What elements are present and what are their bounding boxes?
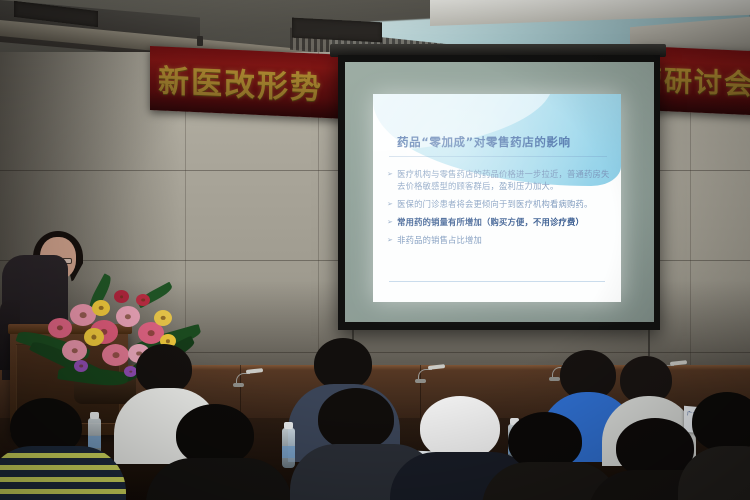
bottle-label xyxy=(282,446,295,458)
flower-blossom-purple xyxy=(74,360,88,372)
audience-head xyxy=(692,392,750,452)
slide-bullet-text: 医疗机构与零售药店的药品价格进一步拉近，普通药房失去价格敏感型的顾客群后，盈利压… xyxy=(397,168,611,192)
flower-blossom-yellow xyxy=(92,300,110,316)
audience-head xyxy=(314,338,372,390)
water-bottle xyxy=(282,428,295,468)
slide-bullet-item-emphasized: ➢ 常用药的销量有所增加（购买方便，不用诊疗费） xyxy=(387,216,611,228)
flower-blossom xyxy=(48,318,72,338)
microphone-head-icon xyxy=(428,364,445,370)
audience-member-foreground xyxy=(488,412,606,500)
slide-bullet-item: ➢ 医保的门诊患者将会更倾向于到医疗机构看病购药。 xyxy=(387,198,611,210)
audience-head xyxy=(318,388,394,450)
audience-head xyxy=(136,344,192,394)
table-microphone xyxy=(236,370,266,384)
slide-bullet-list: ➢ 医疗机构与零售药店的药品价格进一步拉近，普通药房失去价格敏感型的顾客群后，盈… xyxy=(387,168,611,252)
table-microphone xyxy=(418,366,448,380)
bullet-arrow-icon: ➢ xyxy=(387,216,393,227)
conference-room-photo: 新医改形势 营研讨会 药品“零加成”对零售药店的影响 ➢ 医疗机构与零售药店的药… xyxy=(0,0,750,500)
slide-footer-divider xyxy=(389,281,605,282)
microphone-base xyxy=(415,379,426,383)
bullet-arrow-icon: ➢ xyxy=(387,198,393,209)
flower-blossom xyxy=(116,306,140,327)
bullet-arrow-icon: ➢ xyxy=(387,234,393,245)
audience-head xyxy=(616,418,694,478)
slide-title-divider xyxy=(389,156,607,157)
flower-blossom-yellow xyxy=(84,328,104,346)
screen-surface: 药品“零加成”对零售药店的影响 ➢ 医疗机构与零售药店的药品价格进一步拉近，普通… xyxy=(345,62,654,322)
audience-shoulders xyxy=(678,446,750,500)
bottle-cap xyxy=(284,422,293,429)
audience-member-foreground xyxy=(0,398,116,500)
audience-head xyxy=(176,404,254,466)
banner-left-segment: 新医改形势 xyxy=(150,46,365,120)
audience-member-foreground xyxy=(150,404,282,500)
slide-bullet-text: 常用药的销量有所增加（购买方便，不用诊疗费） xyxy=(397,216,584,228)
presentation-slide: 药品“零加成”对零售药店的影响 ➢ 医疗机构与零售药店的药品价格进一步拉近，普通… xyxy=(373,94,621,302)
projection-screen: 药品“零加成”对零售药店的影响 ➢ 医疗机构与零售药店的药品价格进一步拉近，普通… xyxy=(338,55,660,330)
slide-title: 药品“零加成”对零售药店的影响 xyxy=(397,134,609,150)
microphone-head-icon xyxy=(246,368,263,374)
banner-left-text: 新医改形势 xyxy=(158,55,323,107)
slide-bullet-text: 医保的门诊患者将会更倾向于到医疗机构看病购药。 xyxy=(397,198,592,210)
microphone-base xyxy=(233,383,244,387)
ceiling-sensor-icon xyxy=(197,36,203,46)
slide-bullet-item: ➢ 非药品的销售占比增加 xyxy=(387,234,611,246)
flower-blossom-yellow xyxy=(154,310,172,326)
flower-blossom-red xyxy=(114,290,129,303)
flower-blossom-red xyxy=(136,294,150,306)
audience-member-foreground xyxy=(686,392,750,500)
audience-shoulders xyxy=(0,446,126,500)
slide-bullet-item: ➢ 医疗机构与零售药店的药品价格进一步拉近，普通药房失去价格敏感型的顾客群后，盈… xyxy=(387,168,611,192)
audience-shoulders xyxy=(146,458,292,500)
slide-bullet-text: 非药品的销售占比增加 xyxy=(397,234,482,246)
flower-blossom xyxy=(62,340,87,361)
bullet-arrow-icon: ➢ xyxy=(387,168,393,179)
screen-support-leg xyxy=(648,330,650,356)
